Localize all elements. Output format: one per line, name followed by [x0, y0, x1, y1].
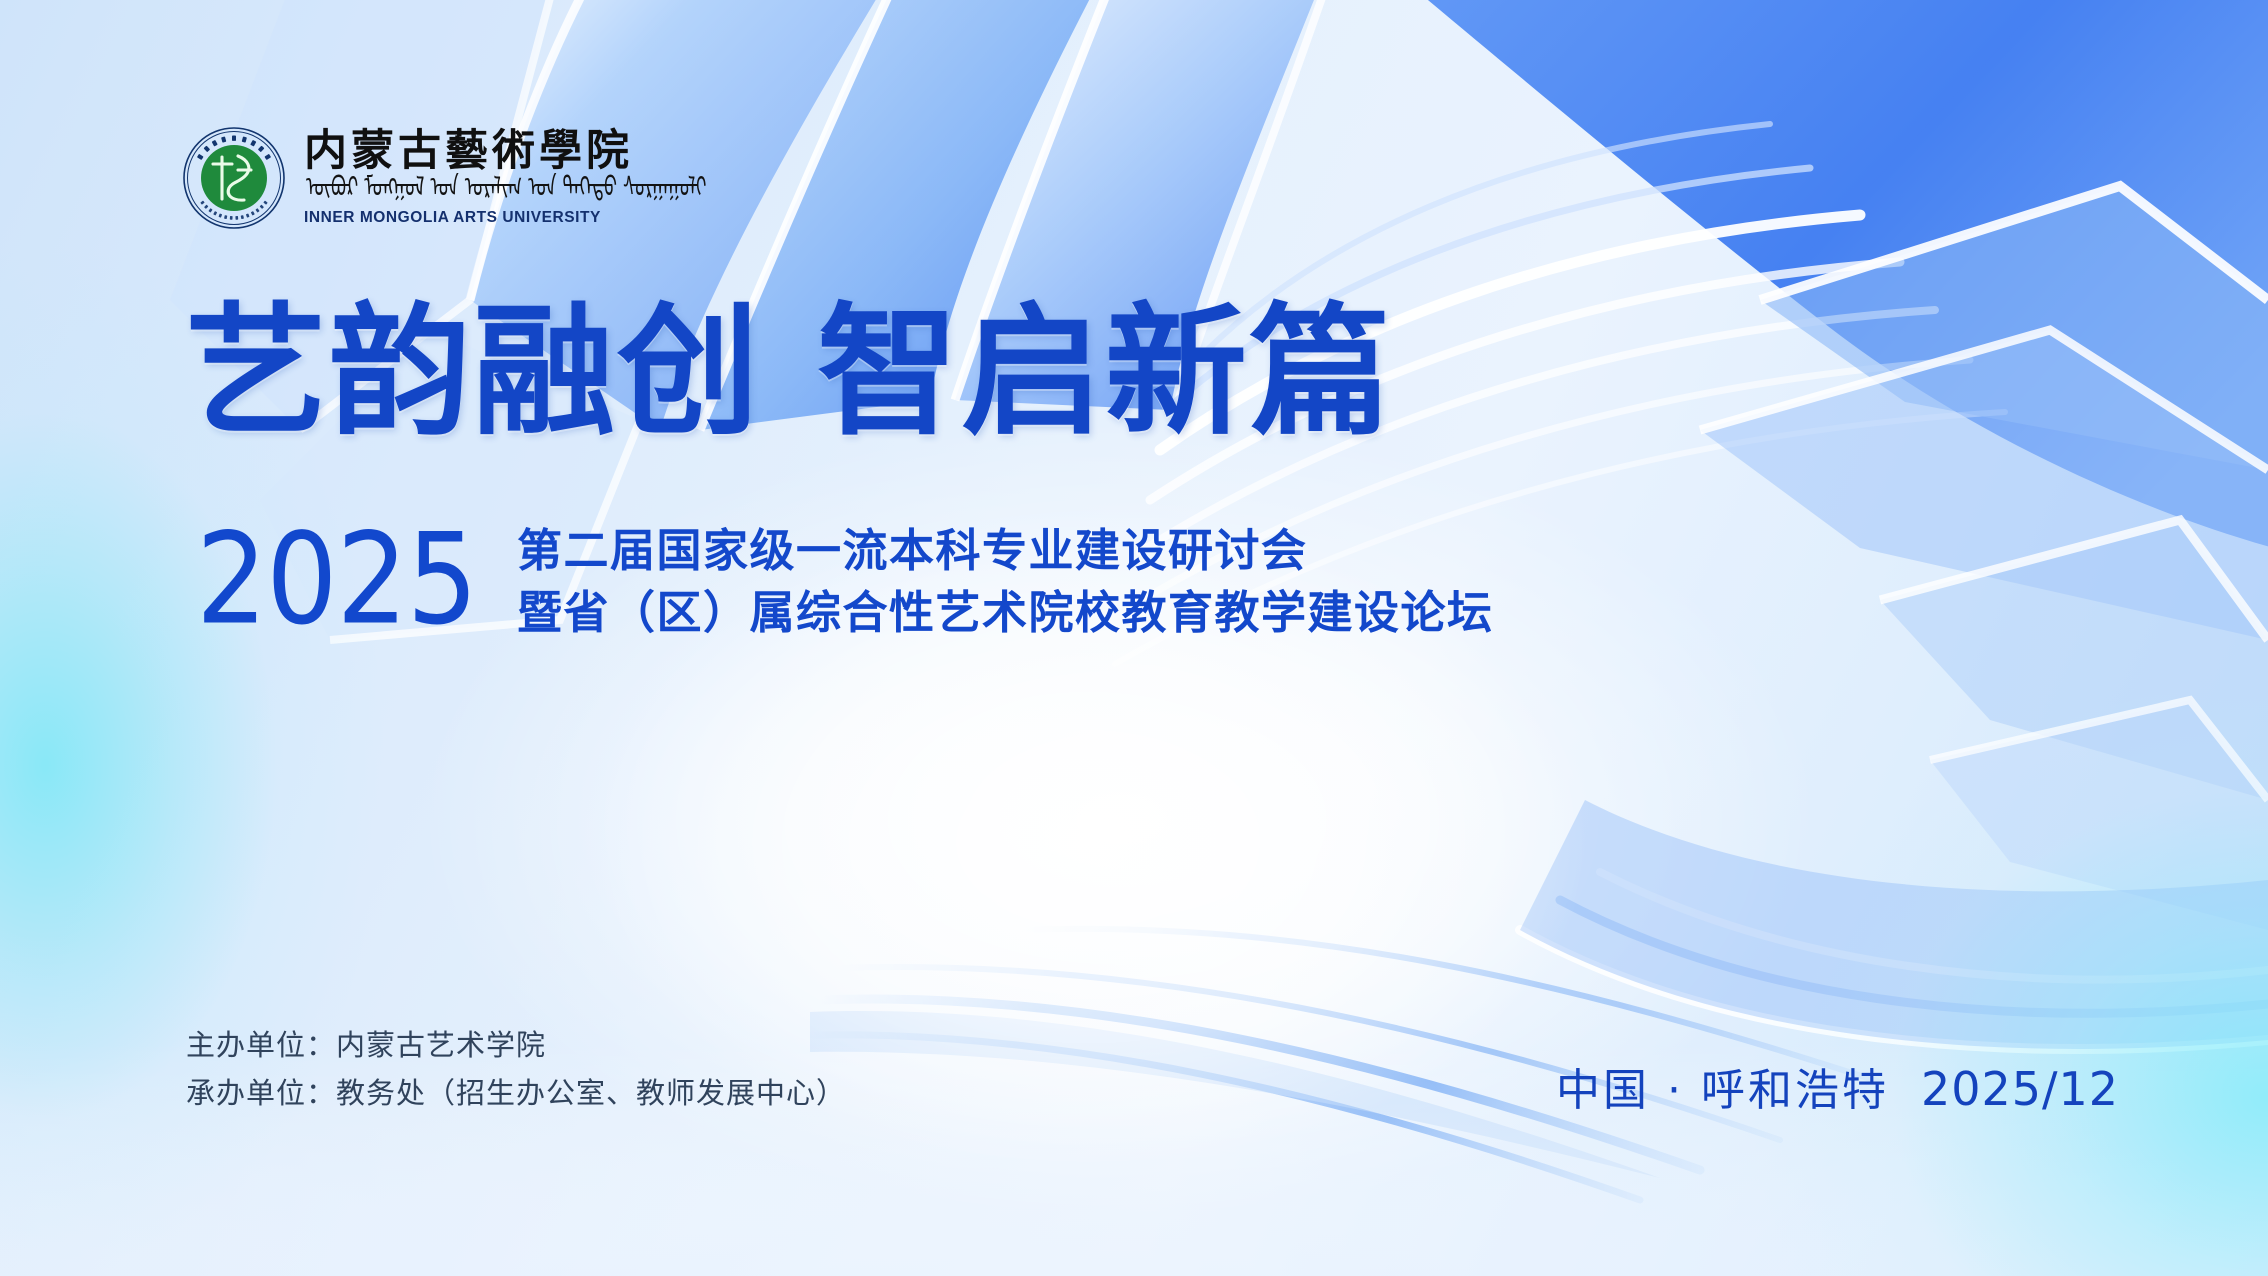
headline-part-2: 智启新篇 [817, 290, 1393, 455]
banner-headline: 艺韵融创智启新篇 [185, 302, 1393, 444]
logo-wordmark: 内蒙古藝術學院 ᠥᠪᠥᠷ ᠮᠣᠩᠭᠣᠯ ᠤᠨ ᠤᠷᠠᠯᠢᠭ ᠤᠨ ᠳᠡᠭᠡᠳᠦ … [304, 129, 707, 227]
subtitle-line-2: 暨省（区）属综合性艺术院校教育教学建设论坛 [517, 588, 1494, 638]
footer-organizers: 主办单位：内蒙古艺术学院 承办单位：教务处（招生办公室、教师发展中心） [186, 1028, 846, 1110]
subtitle-lines: 第二届国家级一流本科专业建设研讨会 暨省（区）属综合性艺术院校教育教学建设论坛 [517, 522, 1494, 637]
logo-name-english: INNER MONGOLIA ARTS UNIVERSITY [304, 209, 707, 227]
conference-banner: 内蒙古藝術學院 ᠥᠪᠥᠷ ᠮᠣᠩᠭᠣᠯ ᠤᠨ ᠤᠷᠠᠯᠢᠭ ᠤᠨ ᠳᠡᠭᠡᠳᠦ … [0, 0, 2268, 1276]
logo-name-mongolian: ᠥᠪᠥᠷ ᠮᠣᠩᠭᠣᠯ ᠤᠨ ᠤᠷᠠᠯᠢᠭ ᠤᠨ ᠳᠡᠭᠡᠳᠦ ᠰᠤᠷᠭᠠᠭᠤᠯ… [306, 174, 707, 206]
university-logo: 内蒙古藝術學院 ᠥᠪᠥᠷ ᠮᠣᠩᠭᠣᠯ ᠤᠨ ᠤᠷᠠᠯᠢᠭ ᠤᠨ ᠳᠡᠭᠡᠳᠦ … [182, 126, 707, 230]
footer-venue-date: 中国 · 呼和浩特 2025/12 [1556, 1054, 2119, 1118]
footer-location: 中国 · 呼和浩特 [1556, 1054, 1889, 1118]
headline-part-1: 艺韵融创 [185, 290, 761, 455]
university-seal-icon [182, 126, 286, 230]
subtitle-year: 2025 [196, 517, 477, 642]
subtitle-line-1: 第二届国家级一流本科专业建设研讨会 [517, 526, 1494, 576]
footer-date: 2025/12 [1921, 1062, 2119, 1116]
footer-organizer: 主办单位：内蒙古艺术学院 [186, 1028, 846, 1062]
logo-name-chinese: 内蒙古藝術學院 [304, 129, 707, 175]
banner-subtitle: 2025 第二届国家级一流本科专业建设研讨会 暨省（区）属综合性艺术院校教育教学… [196, 522, 1494, 637]
footer-host: 承办单位：教务处（招生办公室、教师发展中心） [186, 1076, 846, 1110]
